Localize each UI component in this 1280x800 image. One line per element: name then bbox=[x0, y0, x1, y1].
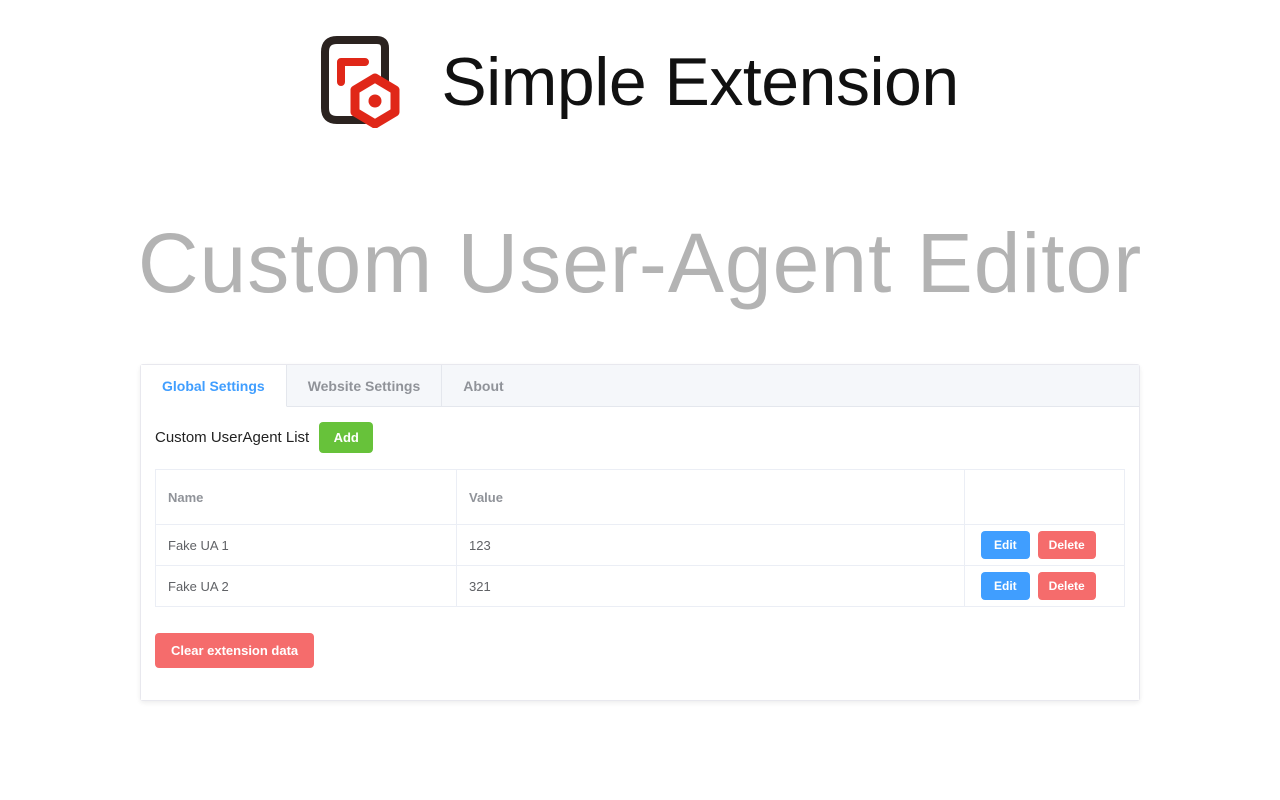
cell-name: Fake UA 1 bbox=[156, 525, 457, 566]
tab-global-settings-label: Global Settings bbox=[162, 378, 265, 394]
row-actions: Edit Delete bbox=[977, 531, 1112, 559]
tab-website-settings-label: Website Settings bbox=[308, 378, 421, 394]
page-subtitle: Custom User-Agent Editor bbox=[0, 208, 1280, 318]
tab-bar: Global Settings Website Settings About bbox=[141, 365, 1139, 407]
delete-button[interactable]: Delete bbox=[1038, 531, 1096, 559]
useragent-table: Name Value Fake UA 1 123 Edit Delete bbox=[155, 469, 1125, 607]
delete-button[interactable]: Delete bbox=[1038, 572, 1096, 600]
tab-website-settings[interactable]: Website Settings bbox=[287, 365, 443, 406]
row-actions: Edit Delete bbox=[977, 572, 1112, 600]
useragent-list-header: Custom UserAgent List Add bbox=[155, 422, 1125, 453]
tab-global-settings[interactable]: Global Settings bbox=[141, 365, 287, 407]
add-useragent-button[interactable]: Add bbox=[319, 422, 373, 453]
clear-extension-data-button[interactable]: Clear extension data bbox=[155, 633, 314, 668]
column-header-actions bbox=[965, 470, 1125, 525]
settings-card: Global Settings Website Settings About C… bbox=[140, 364, 1140, 701]
tab-about[interactable]: About bbox=[442, 365, 524, 406]
tab-about-label: About bbox=[463, 378, 503, 394]
column-header-value: Value bbox=[457, 470, 965, 525]
cell-actions: Edit Delete bbox=[965, 525, 1125, 566]
useragent-table-head: Name Value bbox=[156, 470, 1125, 525]
column-header-name: Name bbox=[156, 470, 457, 525]
useragent-table-body: Fake UA 1 123 Edit Delete Fake UA 2 321 bbox=[156, 525, 1125, 607]
tab-panel-global-settings: Custom UserAgent List Add Name Value Fa bbox=[141, 407, 1139, 700]
table-row: Fake UA 2 321 Edit Delete bbox=[156, 566, 1125, 607]
cell-value: 123 bbox=[457, 525, 965, 566]
table-row: Fake UA 1 123 Edit Delete bbox=[156, 525, 1125, 566]
useragent-list-label: Custom UserAgent List bbox=[155, 430, 309, 445]
footer-actions: Clear extension data bbox=[155, 633, 1125, 668]
edit-button[interactable]: Edit bbox=[981, 572, 1030, 600]
page-title: Simple Extension bbox=[441, 48, 958, 116]
cell-value: 321 bbox=[457, 566, 965, 607]
extension-logo-icon bbox=[321, 36, 401, 128]
page-root: Simple Extension Custom User-Agent Edito… bbox=[0, 0, 1280, 800]
edit-button[interactable]: Edit bbox=[981, 531, 1030, 559]
cell-actions: Edit Delete bbox=[965, 566, 1125, 607]
brand-header: Simple Extension bbox=[0, 36, 1280, 128]
cell-name: Fake UA 2 bbox=[156, 566, 457, 607]
table-header-row: Name Value bbox=[156, 470, 1125, 525]
